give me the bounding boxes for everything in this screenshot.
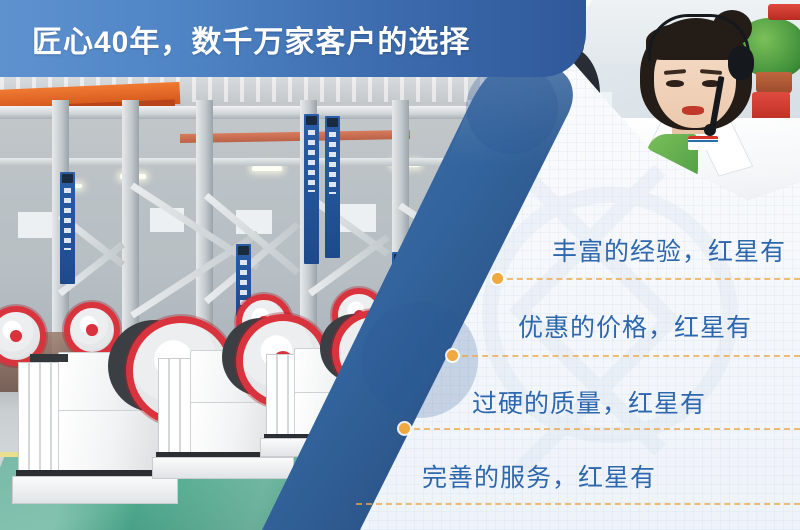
feature-item-3: 过硬的质量，红星有: [472, 384, 706, 420]
feature-separator-3: [404, 428, 800, 430]
feature-separator-dot-1: [492, 273, 503, 284]
feature-list: 丰富的经验，红星有 优惠的价格，红星有 过硬的质量，红星有 完善的服务，红星有: [0, 0, 800, 530]
feature-item-4: 完善的服务，红星有: [422, 458, 656, 494]
feature-separator-2: [452, 355, 800, 357]
feature-separator-1: [497, 278, 800, 280]
promo-banner: HONGXING: [0, 0, 800, 530]
feature-item-2: 优惠的价格，红星有: [518, 308, 752, 344]
feature-item-1: 丰富的经验，红星有: [552, 232, 786, 268]
feature-separator-dot-2: [447, 350, 458, 361]
feature-separator-dot-3: [399, 423, 410, 434]
feature-separator-4: [356, 503, 800, 505]
